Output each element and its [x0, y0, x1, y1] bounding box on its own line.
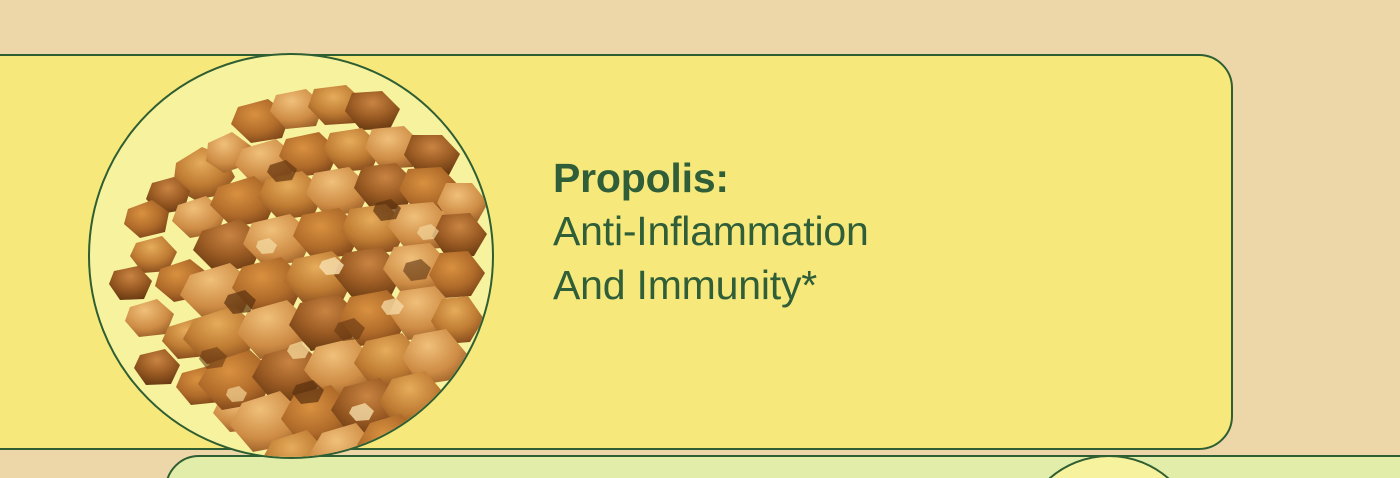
headline-line-2: Anti-Inflammation — [553, 205, 1193, 258]
next-benefit-card[interactable] — [165, 455, 1400, 478]
propolis-granules-image — [90, 55, 494, 459]
page-root: Propolis: Anti-Inflammation And Immunity… — [0, 0, 1400, 478]
propolis-image-medallion — [88, 53, 494, 459]
benefit-headline: Propolis: Anti-Inflammation And Immunity… — [553, 152, 1193, 312]
headline-line-1: Propolis: — [553, 152, 1193, 205]
headline-line-3: And Immunity* — [553, 259, 1193, 312]
